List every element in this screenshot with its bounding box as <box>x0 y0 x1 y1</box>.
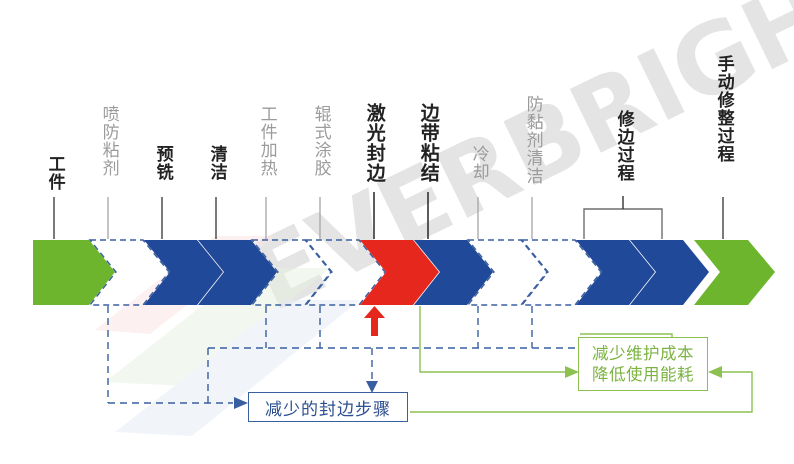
step-label-6: 辊式涂胶 <box>311 105 328 177</box>
step-label-8: 边带粘结 <box>418 103 437 183</box>
step-label-trim-process: 修边过程 <box>614 110 631 182</box>
callout-benefits-line2: 降低使用能耗 <box>592 364 694 385</box>
callout-benefits-line1: 减少维护成本 <box>592 343 694 364</box>
process-flow-diagram: EVERBRIGHT <box>0 0 794 464</box>
step-label-9: 冷却 <box>469 145 486 181</box>
step-label-4: 清洁 <box>207 145 224 181</box>
callout-reduced-steps-text: 减少的封边步骤 <box>265 395 391 420</box>
step-label-13: 手动修整过程 <box>714 55 731 163</box>
step-label-3: 预铣 <box>153 145 170 181</box>
step-label-7: 激光封边 <box>364 103 383 183</box>
step-label-5: 工件加热 <box>257 105 274 177</box>
green-line-from-bond <box>420 306 565 372</box>
step-label-1: 工件 <box>45 155 62 191</box>
callout-reduced-steps[interactable]: 减少的封边步骤 <box>248 392 408 422</box>
callout-benefits[interactable]: 减少维护成本 降低使用能耗 <box>578 337 708 391</box>
arrowhead-benefits-left <box>565 366 579 378</box>
step-label-2: 喷防粘剂 <box>99 105 116 177</box>
arrowhead-benefits-right <box>708 366 722 378</box>
step-label-10: 防黏剂清洁 <box>523 95 540 185</box>
